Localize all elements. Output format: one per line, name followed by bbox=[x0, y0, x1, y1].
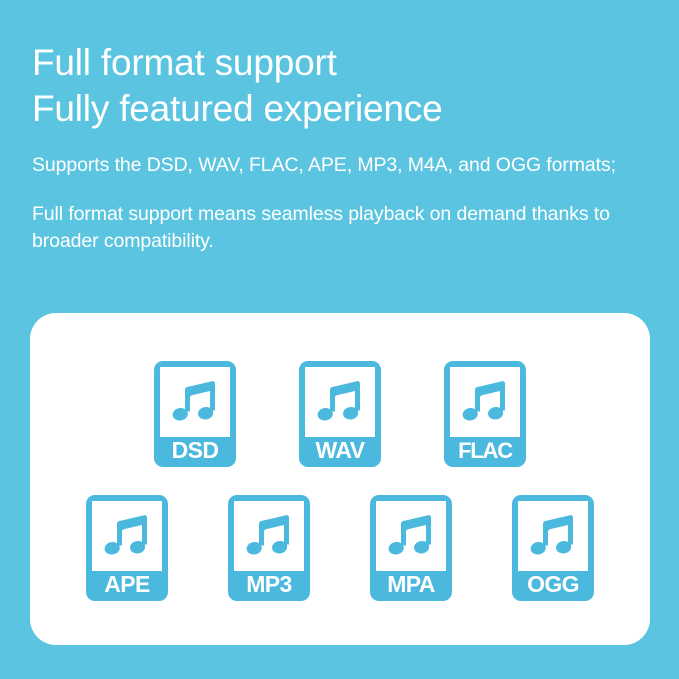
format-icon-ape[interactable]: APE bbox=[86, 495, 168, 601]
body-paragraph-1: Supports the DSD, WAV, FLAC, APE, MP3, M… bbox=[32, 152, 656, 179]
music-note-file-icon bbox=[518, 501, 588, 571]
format-label: DSD bbox=[154, 438, 236, 463]
music-note-file-icon bbox=[450, 367, 520, 437]
body-copy: Supports the DSD, WAV, FLAC, APE, MP3, M… bbox=[32, 152, 656, 255]
format-icon-mpa[interactable]: MPA bbox=[370, 495, 452, 601]
music-note-file-icon bbox=[160, 367, 230, 437]
format-icon-grid: DSD WAV bbox=[30, 313, 650, 645]
format-icon-dsd[interactable]: DSD bbox=[154, 361, 236, 467]
format-icons-card: DSD WAV bbox=[30, 313, 650, 645]
music-note-file-icon bbox=[234, 501, 304, 571]
music-note-file-icon bbox=[92, 501, 162, 571]
page-title: Full format support Fully featured exper… bbox=[32, 40, 657, 132]
body-paragraph-2: Full format support means seamless playb… bbox=[32, 201, 656, 255]
format-label: FLAC bbox=[444, 438, 526, 463]
headline-line-2: Fully featured experience bbox=[32, 86, 657, 132]
music-note-file-icon bbox=[376, 501, 446, 571]
format-icon-row-1: DSD WAV bbox=[154, 361, 526, 467]
format-icon-ogg[interactable]: OGG bbox=[512, 495, 594, 601]
format-icon-row-2: APE MP3 bbox=[86, 495, 594, 601]
format-icon-mp3[interactable]: MP3 bbox=[228, 495, 310, 601]
format-label: WAV bbox=[299, 438, 381, 463]
format-label: OGG bbox=[512, 572, 594, 597]
format-label: MPA bbox=[370, 572, 452, 597]
music-note-file-icon bbox=[305, 367, 375, 437]
format-label: APE bbox=[86, 572, 168, 597]
format-label: MP3 bbox=[228, 572, 310, 597]
promo-slide: Full format support Fully featured exper… bbox=[0, 0, 679, 679]
format-icon-wav[interactable]: WAV bbox=[299, 361, 381, 467]
headline-line-1: Full format support bbox=[32, 40, 657, 86]
format-icon-flac[interactable]: FLAC bbox=[444, 361, 526, 467]
